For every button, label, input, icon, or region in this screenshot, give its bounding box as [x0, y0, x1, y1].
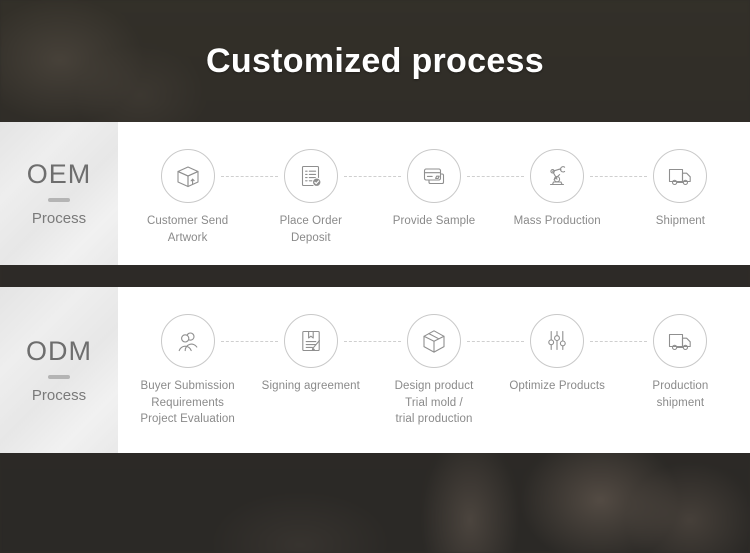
users-person-icon [173, 326, 203, 356]
customized-process-banner: Customized process OEM Process [0, 0, 750, 553]
credit-cards-icon [419, 161, 449, 191]
step-customer-send-artwork[interactable]: Customer Send Artwork [126, 122, 249, 246]
step-connector [344, 341, 401, 342]
step-label: Shipment [656, 213, 705, 230]
odm-label-panel: ODM Process [0, 287, 118, 453]
step-label: Customer Send Artwork [147, 213, 228, 246]
step-connector [590, 176, 647, 177]
step-place-order-deposit[interactable]: Place Order Deposit [249, 122, 372, 246]
step-icon-circle [407, 149, 461, 203]
step-connector [590, 341, 647, 342]
step-icon-circle [653, 149, 707, 203]
step-icon-circle [284, 314, 338, 368]
odm-label-sub: Process [32, 388, 86, 403]
step-design-product[interactable]: Design product Trial mold / trial produc… [372, 287, 495, 428]
odm-steps: Buyer Submission Requirements Project Ev… [118, 287, 750, 453]
step-icon-circle [653, 314, 707, 368]
step-connector [221, 176, 278, 177]
step-label: Optimize Products [509, 378, 605, 395]
divider-dash [48, 198, 70, 202]
document-check-icon [296, 161, 326, 191]
oem-steps: Customer Send Artwork [118, 122, 750, 265]
step-label: Production shipment [652, 378, 708, 411]
delivery-truck-icon [665, 161, 695, 191]
odm-process-section: ODM Process Buyer Submissio [0, 287, 750, 453]
header: Customized process [0, 0, 750, 122]
step-label: Buyer Submission Requirements Project Ev… [140, 378, 235, 428]
step-production-shipment[interactable]: Production shipment [619, 287, 742, 411]
odm-label-main: ODM [26, 338, 92, 365]
step-icon-circle [530, 314, 584, 368]
step-connector [221, 341, 278, 342]
step-icon-circle [284, 149, 338, 203]
robot-arm-icon [542, 161, 572, 191]
step-icon-circle [161, 149, 215, 203]
oem-process-section: OEM Process Customer Send A [0, 122, 750, 265]
package-box-icon [173, 161, 203, 191]
step-connector [467, 341, 524, 342]
step-label: Place Order Deposit [280, 213, 342, 246]
oem-label-sub: Process [32, 211, 86, 226]
divider-dash [48, 375, 70, 379]
step-label: Signing agreement [262, 378, 360, 395]
signed-document-icon [296, 326, 326, 356]
page-title: Customized process [206, 42, 544, 81]
cube-box-icon [419, 326, 449, 356]
step-buyer-submission[interactable]: Buyer Submission Requirements Project Ev… [126, 287, 249, 428]
step-icon-circle [161, 314, 215, 368]
step-label: Mass Production [514, 213, 601, 230]
step-icon-circle [530, 149, 584, 203]
step-icon-circle [407, 314, 461, 368]
delivery-truck-icon [665, 326, 695, 356]
step-connector [467, 176, 524, 177]
sliders-icon [542, 326, 572, 356]
oem-label-main: OEM [27, 161, 92, 188]
oem-label-panel: OEM Process [0, 122, 118, 265]
step-connector [344, 176, 401, 177]
step-label: Provide Sample [393, 213, 476, 230]
step-label: Design product Trial mold / trial produc… [395, 378, 474, 428]
